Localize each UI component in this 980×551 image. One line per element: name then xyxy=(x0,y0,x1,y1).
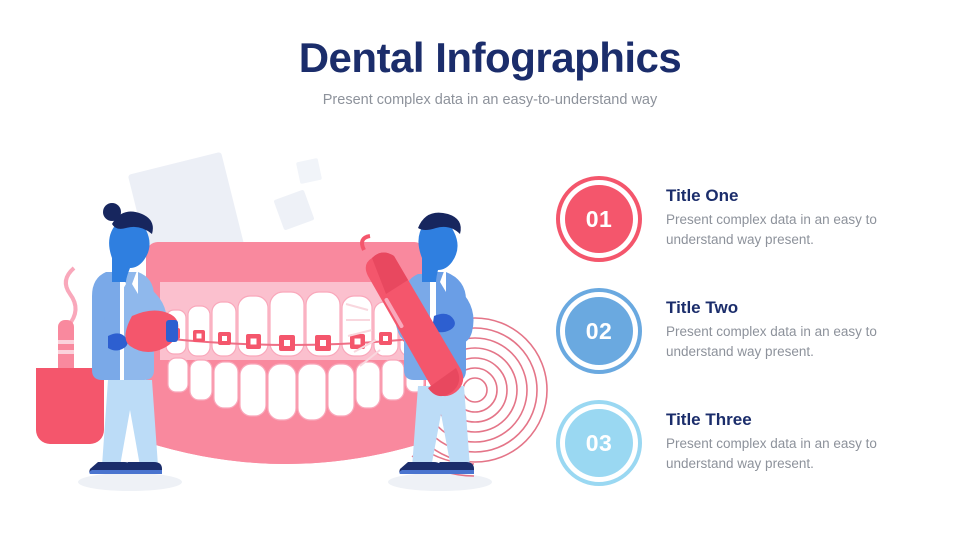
list-item[interactable]: 03 Title Three Present complex data in a… xyxy=(556,398,956,510)
list-item[interactable]: 01 Title One Present complex data in an … xyxy=(556,174,956,286)
item-title: Title Three xyxy=(666,410,916,430)
slide-root: Dental Infographics Present complex data… xyxy=(0,0,980,551)
badge-number: 03 xyxy=(586,430,613,457)
item-text: Title One Present complex data in an eas… xyxy=(642,174,916,250)
badge-02[interactable]: 02 xyxy=(556,288,642,374)
item-title: Title One xyxy=(666,186,916,206)
badge-01[interactable]: 01 xyxy=(556,176,642,262)
header: Dental Infographics Present complex data… xyxy=(0,36,980,109)
badge-03[interactable]: 03 xyxy=(556,400,642,486)
list-item[interactable]: 02 Title Two Present complex data in an … xyxy=(556,286,956,398)
item-text: Title Three Present complex data in an e… xyxy=(642,398,916,474)
item-text: Title Two Present complex data in an eas… xyxy=(642,286,916,362)
page-title: Dental Infographics xyxy=(0,36,980,80)
item-description: Present complex data in an easy to under… xyxy=(666,322,916,361)
badge-number: 02 xyxy=(586,318,613,345)
ground-shadows xyxy=(78,473,492,491)
dental-illustration xyxy=(20,150,550,520)
item-title: Title Two xyxy=(666,298,916,318)
page-subtitle: Present complex data in an easy-to-under… xyxy=(0,92,980,109)
item-description: Present complex data in an easy to under… xyxy=(666,434,916,473)
badge-number: 01 xyxy=(586,206,613,233)
item-description: Present complex data in an easy to under… xyxy=(666,210,916,249)
info-list: 01 Title One Present complex data in an … xyxy=(556,174,956,510)
